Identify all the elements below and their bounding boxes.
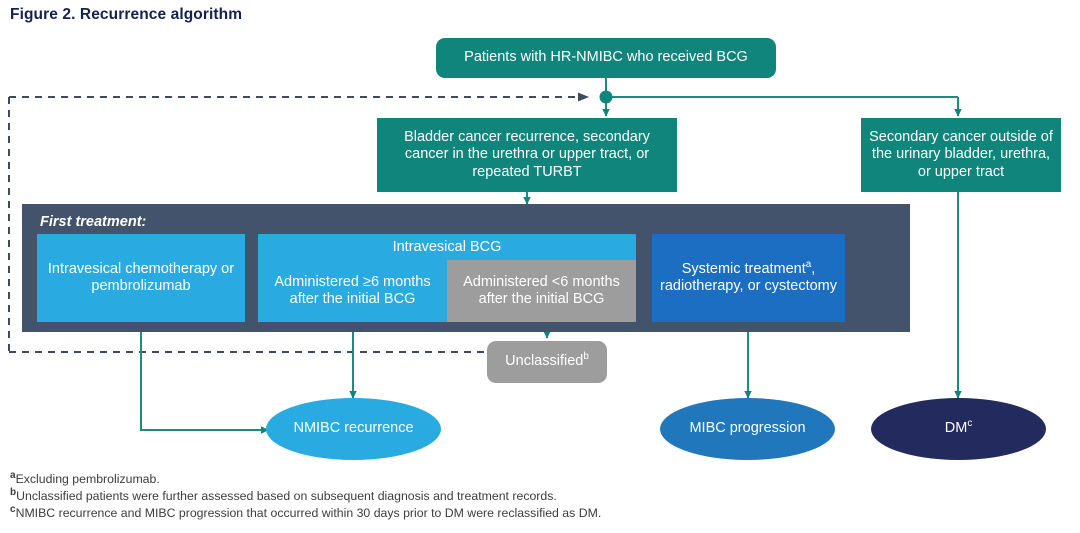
- outcome-nmibc-recurrence: NMIBC recurrence: [266, 398, 441, 460]
- outcome-dm: DMc: [871, 398, 1046, 460]
- unclassified-text: Unclassifiedb: [505, 353, 589, 370]
- dm-text: DMc: [945, 420, 972, 437]
- node-intravesical-chemotherapy: Intravesical chemotherapy or pembrolizum…: [37, 234, 245, 322]
- node-unclassified: Unclassifiedb: [487, 341, 607, 383]
- intravesical-bcg-columns: Administered ≥6 months after the initial…: [258, 260, 636, 322]
- systemic-label: Systemic treatment: [682, 261, 806, 277]
- node-bladder-recurrence: Bladder cancer recurrence, secondary can…: [377, 118, 677, 192]
- systemic-treatment-text: Systemic treatmenta, radiotherapy, or cy…: [657, 261, 840, 295]
- figure-container: Figure 2. Recurrence algorithm: [0, 0, 1080, 533]
- node-systemic-treatment: Systemic treatmenta, radiotherapy, or cy…: [652, 234, 845, 322]
- node-bcg-lt-6-months: Administered <6 months after the initial…: [447, 260, 636, 322]
- footnote-b: bUnclassified patients were further asse…: [10, 489, 1070, 503]
- unclassified-footnote-marker: b: [583, 352, 588, 363]
- node-intravesical-bcg-group: Intravesical BCG Administered ≥6 months …: [258, 234, 636, 322]
- footnote-a-text: Excluding pembrolizumab.: [16, 472, 160, 486]
- junction-dot: [600, 91, 613, 104]
- unclassified-label: Unclassified: [505, 353, 583, 369]
- node-secondary-cancer-outside: Secondary cancer outside of the urinary …: [861, 118, 1061, 192]
- footnote-a: aExcluding pembrolizumab.: [10, 472, 1070, 486]
- footnote-b-text: Unclassified patients were further asses…: [16, 489, 557, 503]
- intravesical-bcg-header: Intravesical BCG: [258, 234, 636, 260]
- dm-label: DM: [945, 420, 968, 436]
- footnotes: aExcluding pembrolizumab. bUnclassified …: [10, 472, 1070, 523]
- footnote-c: cNMIBC recurrence and MIBC progression t…: [10, 506, 1070, 520]
- node-bcg-ge-6-months: Administered ≥6 months after the initial…: [258, 260, 447, 322]
- outcome-mibc-progression: MIBC progression: [660, 398, 835, 460]
- footnote-c-text: NMIBC recurrence and MIBC progression th…: [16, 506, 602, 520]
- figure-title: Figure 2. Recurrence algorithm: [10, 6, 242, 24]
- dashed-arrowhead: [578, 93, 589, 102]
- node-cohort: Patients with HR-NMIBC who received BCG: [436, 38, 776, 78]
- first-treatment-label: First treatment:: [40, 214, 146, 230]
- dm-footnote-marker: c: [967, 418, 972, 429]
